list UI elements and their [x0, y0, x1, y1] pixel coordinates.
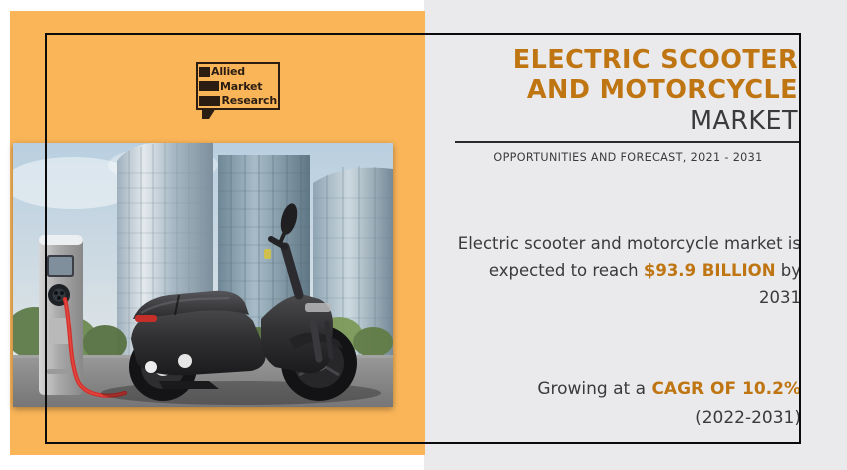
market-value-statement: Electric scooter and motorcycle market i… — [455, 230, 801, 311]
title-line-2: AND MOTORCYCLE — [455, 75, 798, 105]
logo-bar-icon — [199, 96, 220, 106]
cagr-statement: Growing at a CAGR OF 10.2% (2022-2031) — [455, 375, 801, 433]
title-block: ELECTRIC SCOOTER AND MOTORCYCLE MARKET — [455, 45, 801, 137]
logo-row-1: Allied — [199, 66, 277, 77]
logo-row-3: Research — [199, 95, 277, 106]
cagr-highlight: CAGR OF 10.2% — [651, 379, 801, 399]
logo-row-2: Market — [199, 81, 277, 92]
logo-bar-icon — [199, 67, 210, 77]
text-column: ELECTRIC SCOOTER AND MOTORCYCLE MARKET O… — [455, 45, 801, 440]
infographic-canvas: Allied Market Research — [0, 0, 847, 470]
cagr-text-part1: Growing at a — [537, 379, 651, 399]
logo-word-market: Market — [220, 81, 262, 92]
market-value-highlight: $93.9 BILLION — [644, 261, 776, 280]
logo-bar-icon — [199, 81, 219, 91]
allied-market-research-logo: Allied Market Research — [196, 62, 280, 118]
scooter-charging-photo — [13, 143, 393, 407]
logo-word-allied: Allied — [211, 66, 245, 77]
logo-word-research: Research — [221, 95, 277, 106]
cagr-period: (2022-2031) — [455, 404, 801, 433]
title-divider — [455, 141, 801, 143]
photo-illustration — [13, 143, 393, 407]
logo-rows: Allied Market Research — [199, 66, 277, 106]
title-line-3: MARKET — [455, 105, 798, 137]
subtitle: OPPORTUNITIES AND FORECAST, 2021 - 2031 — [455, 151, 801, 164]
title-line-1: ELECTRIC SCOOTER — [455, 45, 798, 75]
